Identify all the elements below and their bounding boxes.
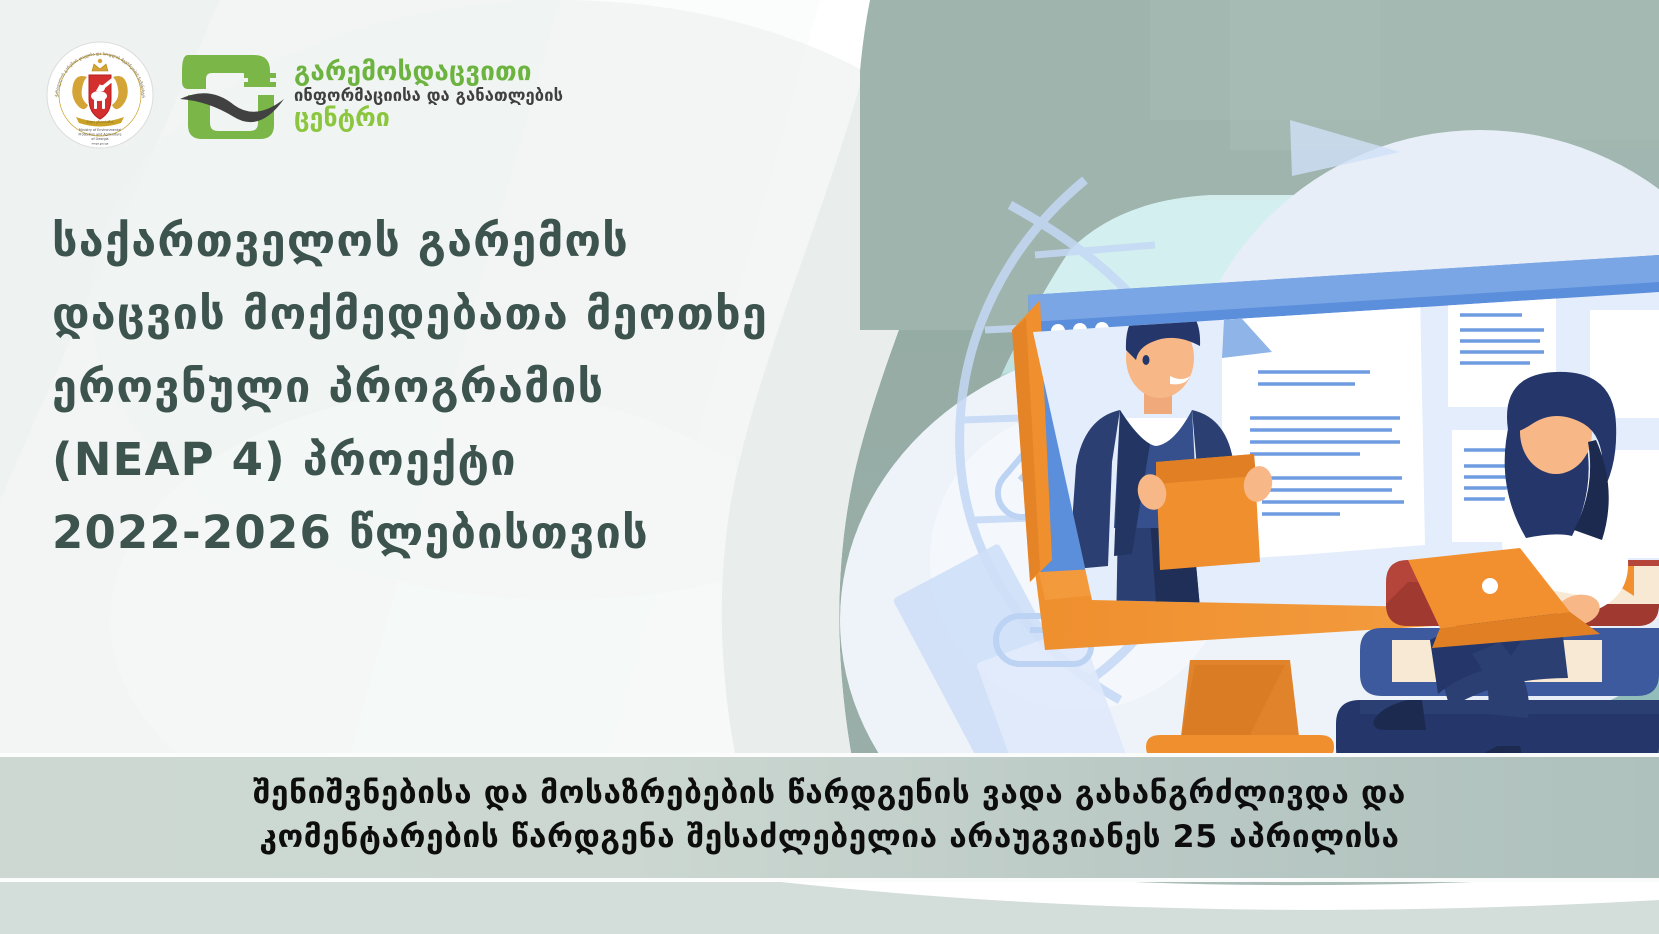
deadline-banner: შენიშვნებისა და მოსაზრებების წარდგენის ვ… <box>0 753 1659 882</box>
svg-text:Protection and Agriculture: Protection and Agriculture <box>78 133 121 137</box>
page-title: საქართველოს გარემოს დაცვის მოქმედებათა მ… <box>52 205 812 569</box>
eiec-wordmark: გარემოსდაცვითი ინფორმაციისა და განათლები… <box>294 59 563 131</box>
eiec-line-2: ინფორმაციისა და განათლების <box>294 88 563 105</box>
eiec-logo: გარემოსდაცვითი ინფორმაციისა და განათლები… <box>180 49 563 141</box>
headline-line-4: (NEAP 4) პროექტი <box>52 424 812 497</box>
svg-text:of Georgia: of Georgia <box>91 137 108 141</box>
georgia-coat-of-arms-seal: საქართველოს გარემოს დაცვისა და სოფლის მე… <box>46 41 154 149</box>
headline-line-2: დაცვის მოქმედებათა მეოთხე <box>52 278 812 351</box>
svg-text:mepa.gov.ge: mepa.gov.ge <box>92 142 109 145</box>
logo-row: საქართველოს გარემოს დაცვისა და სოფლის მე… <box>0 0 620 190</box>
promo-banner-root: საქართველოს გარემოს დაცვისა და სოფლის მე… <box>0 0 1659 934</box>
eiec-line-1: გარემოსდაცვითი <box>294 59 563 86</box>
svg-text:Ministry of Environmental: Ministry of Environmental <box>79 128 121 132</box>
eiec-line-3: ცენტრი <box>294 105 563 131</box>
headline-line-1: საქართველოს გარემოს <box>52 205 812 278</box>
banner-line-1: შენიშვნებისა და მოსაზრებების წარდგენის ვ… <box>0 771 1659 816</box>
svg-text:ძალა ერთობაშია: ძალა ერთობაშია <box>87 120 114 124</box>
ministry-emblem-logo: საქართველოს გარემოს დაცვისა და სოფლის მე… <box>46 41 154 149</box>
headline-line-5: 2022-2026 წლებისთვის <box>52 497 812 570</box>
open-book-green-logo <box>180 49 284 141</box>
banner-line-2: კომენტარების წარდგენა შესაძლებელია არაუგ… <box>0 815 1659 860</box>
headline-line-3: ეროვნული პროგრამის <box>52 351 812 424</box>
